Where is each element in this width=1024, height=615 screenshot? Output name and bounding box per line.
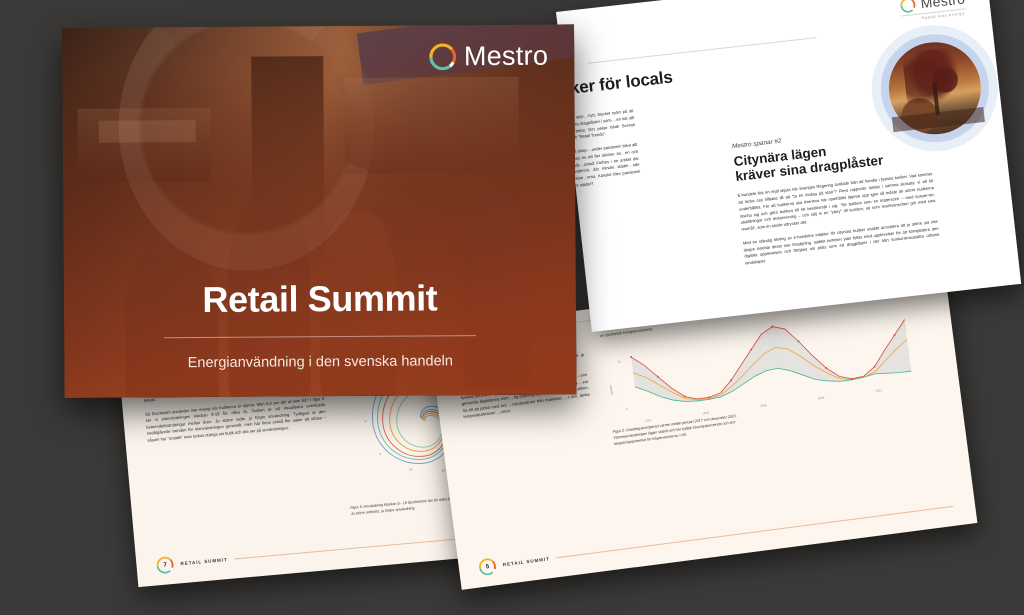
slide-title: Retail Summit bbox=[64, 276, 576, 322]
page-number: 7 bbox=[156, 556, 174, 574]
mestro-logo: Mestro Spend less energy bbox=[900, 0, 967, 22]
magazine-right-column: Mestro spanar #2 Citynära lägen kräver s… bbox=[732, 121, 941, 274]
svg-text:0: 0 bbox=[626, 407, 628, 411]
orange-overlay bbox=[62, 24, 577, 398]
svg-text:2019: 2019 bbox=[760, 403, 767, 408]
brand-wordmark: Mestro bbox=[464, 41, 549, 73]
page-number: 5 bbox=[478, 557, 497, 576]
spread-heading: …la butiker för locals bbox=[556, 47, 854, 106]
mestro-logo: Mestro bbox=[429, 41, 549, 73]
title-slide[interactable]: Mestro Retail Summit Energianvändning i … bbox=[62, 24, 577, 398]
document-magazine-spread[interactable]: Mestro Spend less energy …la butiker för… bbox=[556, 0, 1021, 332]
svg-text:2017: 2017 bbox=[645, 418, 652, 423]
page-number-badge: 5 bbox=[478, 557, 497, 576]
footer-label: RETAIL SUMMIT bbox=[180, 557, 228, 566]
svg-text:18: 18 bbox=[442, 468, 446, 472]
svg-text:2020: 2020 bbox=[818, 396, 825, 401]
page-number-badge: 7 bbox=[156, 556, 174, 574]
svg-text:9: 9 bbox=[364, 419, 366, 423]
svg-text:10: 10 bbox=[617, 360, 621, 364]
svg-text:2018: 2018 bbox=[703, 411, 710, 416]
page-footer: 5 RETAIL SUMMIT bbox=[478, 498, 955, 576]
svg-text:2021: 2021 bbox=[875, 388, 882, 393]
screenshot-canvas: dygnsprofilen ovan. I så fall kan vi se … bbox=[0, 0, 1024, 615]
brand-tagline: Spend less energy bbox=[902, 11, 967, 22]
svg-text:8: 8 bbox=[379, 452, 381, 456]
mestro-donut-icon bbox=[429, 43, 456, 70]
circular-photo-autumn-tree bbox=[884, 37, 986, 139]
mestro-donut-icon bbox=[900, 0, 917, 13]
svg-text:19: 19 bbox=[409, 467, 413, 471]
paragraph: Så Stockholm använder mer energi när but… bbox=[145, 395, 327, 444]
svg-text:kWh/m²: kWh/m² bbox=[609, 385, 614, 395]
footer-label: RETAIL SUMMIT bbox=[503, 556, 551, 567]
footer-rule bbox=[557, 506, 954, 559]
